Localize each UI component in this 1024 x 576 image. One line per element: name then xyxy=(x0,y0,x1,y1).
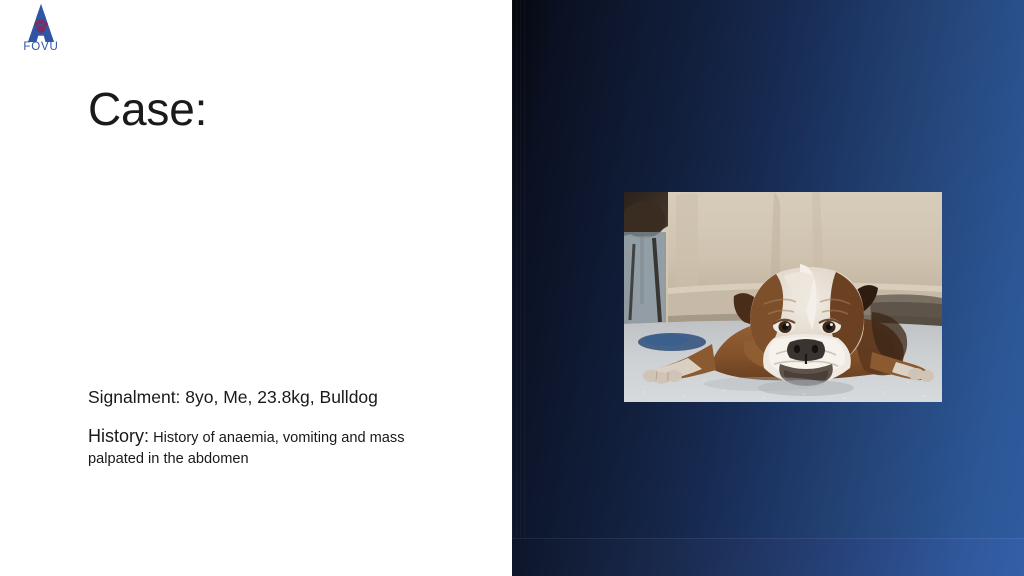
panel-bottom-band xyxy=(512,538,1024,576)
left-content-pane: FOVU Case: Signalment: 8yo, Me, 23.8kg, … xyxy=(0,0,512,576)
blue-gradient-panel xyxy=(512,0,1024,576)
fovu-wordmark: FOVU xyxy=(13,41,69,53)
fovu-logo: FOVU xyxy=(13,4,69,60)
bulldog-photo xyxy=(624,192,942,402)
signalment-line: Signalment: 8yo, Me, 23.8kg, Bulldog xyxy=(88,386,448,410)
history-line: History: History of anaemia, vomiting an… xyxy=(88,424,438,470)
logo-a-icon xyxy=(18,4,64,42)
logo-a-mark xyxy=(18,4,64,42)
case-details-block: Signalment: 8yo, Me, 23.8kg, Bulldog His… xyxy=(88,386,448,470)
history-label: History: xyxy=(88,426,149,446)
slide: FOVU Case: Signalment: 8yo, Me, 23.8kg, … xyxy=(0,0,1024,576)
panel-edge-striations xyxy=(512,0,528,576)
page-title: Case: xyxy=(88,84,207,135)
